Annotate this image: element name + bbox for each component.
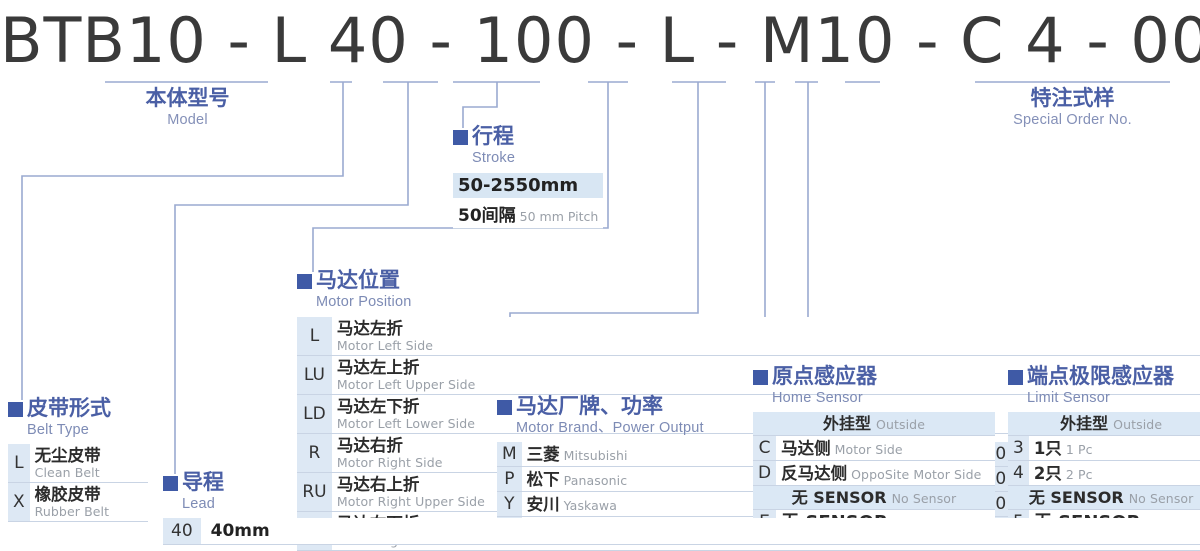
row-value-en: Motor Left Side: [337, 338, 1195, 353]
section-model: 本体型号 Model: [105, 86, 270, 129]
section-limit-sensor-en: Limit Sensor: [1027, 389, 1174, 407]
section-stroke-en: Stroke: [472, 149, 515, 167]
row-brand-cn: 三菱: [527, 445, 560, 464]
table-row[interactable]: L 无尘皮带 Clean Belt: [8, 444, 148, 483]
row-value: 马达侧Motor Side: [776, 436, 995, 461]
section-motor-position-cn: 马达位置: [316, 268, 411, 293]
row-key: R: [297, 434, 332, 473]
section-belt-type: 皮带形式 Belt Type L 无尘皮带 Clean Belt X 橡胶皮带 …: [8, 396, 148, 522]
product-code: BTB10 - L 40 - 100 - L - M10 - C 4 - 000…: [0, 4, 1200, 77]
row-value: 马达左折 Motor Left Side: [332, 317, 1200, 356]
section-lead-en: Lead: [182, 495, 224, 513]
table-row[interactable]: C 马达侧Motor Side: [753, 436, 995, 461]
section-lead: 导程 Lead 40 40mm: [163, 470, 1200, 545]
group-header-cn: 外挂型: [1060, 414, 1108, 433]
section-lead-cn: 导程: [182, 470, 224, 495]
section-model-en: Model: [105, 111, 270, 129]
row-value-en: 1 Pc: [1066, 442, 1093, 457]
group-header-outside: 外挂型Outside: [753, 412, 995, 436]
belt-type-table: L 无尘皮带 Clean Belt X 橡胶皮带 Rubber Belt: [8, 444, 148, 522]
row-value-cn: 无尘皮带: [35, 446, 143, 465]
section-motor-brand-cn: 马达厂牌、功率: [516, 394, 704, 419]
bullet-square-icon: [1008, 370, 1023, 385]
row-value-cn: 橡胶皮带: [35, 485, 143, 504]
row-value-en: Clean Belt: [35, 465, 143, 480]
row-value: 无尘皮带 Clean Belt: [30, 444, 148, 483]
row-value: 橡胶皮带 Rubber Belt: [30, 483, 148, 522]
table-row[interactable]: 40 40mm: [163, 518, 1200, 545]
row-value-en: Motor Side: [835, 442, 903, 457]
row-key: LD: [297, 395, 332, 434]
table-row[interactable]: 50间隔50 mm Pitch: [453, 199, 603, 229]
section-limit-sensor-cn: 端点极限感应器: [1027, 364, 1174, 389]
bullet-square-icon: [163, 476, 178, 491]
group-header-en: Outside: [876, 417, 925, 432]
row-key: X: [8, 483, 30, 522]
group-header-row: 外挂型Outside: [1008, 412, 1200, 436]
bullet-square-icon: [297, 274, 312, 289]
section-special-order: 特注式样 Special Order No.: [975, 86, 1170, 129]
lead-table: 40 40mm: [163, 518, 1200, 545]
row-value-cn: 马达左折: [337, 319, 1195, 338]
row-key: 3: [1008, 436, 1029, 461]
table-row[interactable]: 3 1只1 Pc: [1008, 436, 1200, 461]
table-row[interactable]: 50-2550mm: [453, 173, 603, 199]
section-motor-position-en: Motor Position: [316, 293, 411, 311]
stroke-range-value: 50-2550mm: [458, 175, 578, 196]
table-row[interactable]: L 马达左折 Motor Left Side: [297, 317, 1200, 356]
row-key: LU: [297, 356, 332, 395]
row-brand-en: Mitsubishi: [564, 448, 628, 463]
section-stroke: 行程 Stroke 50-2550mm 50间隔50 mm Pitch: [453, 124, 603, 229]
row-value-cn: 马达侧: [781, 439, 831, 458]
bullet-square-icon: [8, 402, 23, 417]
section-belt-type-en: Belt Type: [27, 421, 111, 439]
row-value-cn: 1只: [1034, 439, 1062, 458]
section-special-order-cn: 特注式样: [975, 86, 1170, 111]
section-belt-type-cn: 皮带形式: [27, 396, 111, 421]
table-row[interactable]: X 橡胶皮带 Rubber Belt: [8, 483, 148, 522]
section-special-order-en: Special Order No.: [975, 111, 1170, 129]
row-key: 40: [163, 518, 201, 545]
group-header-cn: 外挂型: [823, 414, 871, 433]
row-value: 1只1 Pc: [1029, 436, 1200, 461]
spec-code-diagram: BTB10 - L 40 - 100 - L - M10 - C 4 - 000…: [0, 0, 1200, 551]
row-value: 40mm: [201, 518, 1200, 545]
row-key: L: [8, 444, 30, 483]
section-home-sensor-en: Home Sensor: [772, 389, 877, 407]
bullet-square-icon: [453, 130, 468, 145]
section-home-sensor-cn: 原点感应器: [772, 364, 877, 389]
section-model-cn: 本体型号: [105, 86, 270, 111]
row-key: L: [297, 317, 332, 356]
section-motor-brand-en: Motor Brand、Power Output: [516, 419, 704, 437]
stroke-pitch-en: 50 mm Pitch: [520, 209, 599, 224]
stroke-pitch-cn: 50间隔: [458, 206, 516, 226]
row-value-en: Rubber Belt: [35, 504, 143, 519]
bullet-square-icon: [497, 400, 512, 415]
stroke-table: 50-2550mm 50间隔50 mm Pitch: [453, 173, 603, 229]
bullet-square-icon: [753, 370, 768, 385]
stroke-range-cell: 50-2550mm: [453, 173, 603, 199]
section-stroke-cn: 行程: [472, 124, 515, 149]
group-header-en: Outside: [1113, 417, 1162, 432]
row-key: C: [753, 436, 776, 461]
row-key: M: [497, 442, 522, 467]
group-header-outside: 外挂型Outside: [1008, 412, 1200, 436]
group-header-row: 外挂型Outside: [753, 412, 995, 436]
stroke-pitch-cell: 50间隔50 mm Pitch: [453, 199, 603, 229]
